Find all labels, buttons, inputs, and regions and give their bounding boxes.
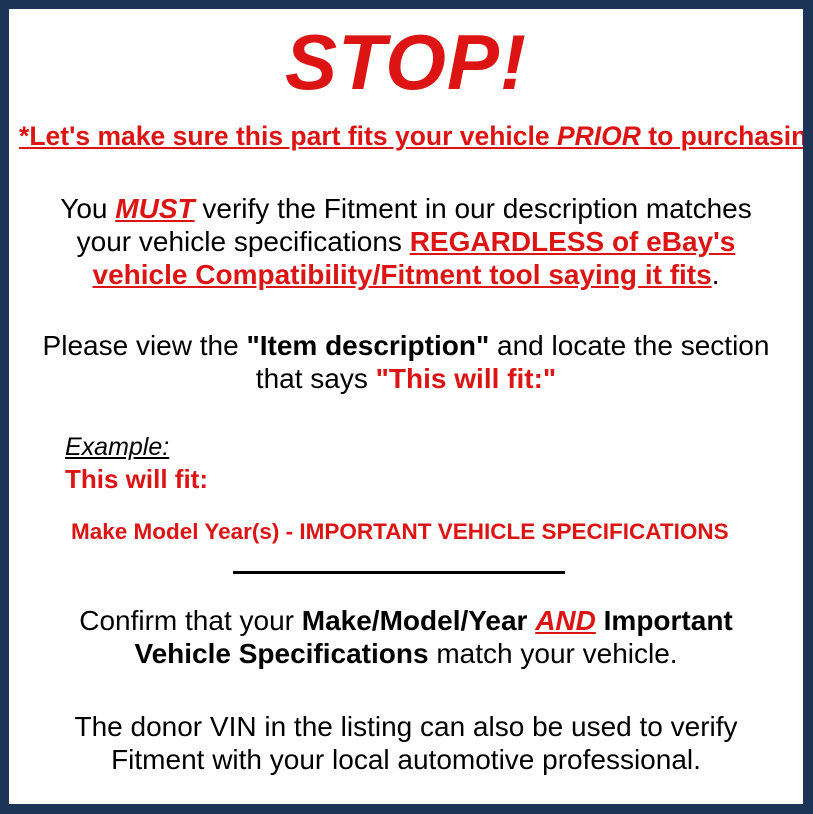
subheading: *Let's make sure this part fits your veh… [19, 105, 793, 153]
confirm-emphasis-make-model-year: Make/Model/Year [302, 605, 528, 636]
vin-paragraph: The donor VIN in the listing can also be… [19, 670, 793, 776]
notice-body: STOP! *Let's make sure this part fits yo… [9, 9, 803, 804]
example-block: Example: This will fit: Make Model Year(… [19, 395, 793, 545]
confirm-emphasis-and: AND [535, 605, 596, 636]
example-this-will-fit-heading: This will fit: [65, 461, 793, 494]
verify-text-period: . [712, 259, 720, 290]
subheading-part-1: *Let's make sure this part fits your veh… [19, 121, 557, 151]
fitment-notice-card: STOP! *Let's make sure this part fits yo… [0, 0, 813, 814]
confirm-paragraph: Confirm that your Make/Model/Year AND Im… [19, 574, 793, 670]
subheading-part-2: to purchasing* [641, 121, 813, 151]
subheading-emphasis-prior: PRIOR [557, 121, 641, 151]
confirm-text-tail: match your vehicle. [429, 638, 678, 669]
view-emphasis-this-will-fit: "This will fit:" [376, 363, 557, 394]
verify-text-lead: You [60, 193, 115, 224]
verify-emphasis-must: MUST [115, 193, 194, 224]
example-label: Example: [65, 433, 793, 461]
view-description-paragraph: Please view the "Item description" and l… [19, 291, 793, 395]
confirm-text-lead: Confirm that your [79, 605, 302, 636]
divider-wrapper [19, 545, 793, 574]
page-title: STOP! [19, 9, 793, 105]
verify-paragraph: You MUST verify the Fitment in our descr… [19, 153, 793, 291]
example-vehicle-spec-line: Make Model Year(s) - IMPORTANT VEHICLE S… [65, 494, 793, 545]
view-text-lead: Please view the [43, 330, 247, 361]
thanks-line: Thank you for confirming Fitment! [19, 776, 793, 814]
view-emphasis-item-description: "Item description" [246, 330, 489, 361]
